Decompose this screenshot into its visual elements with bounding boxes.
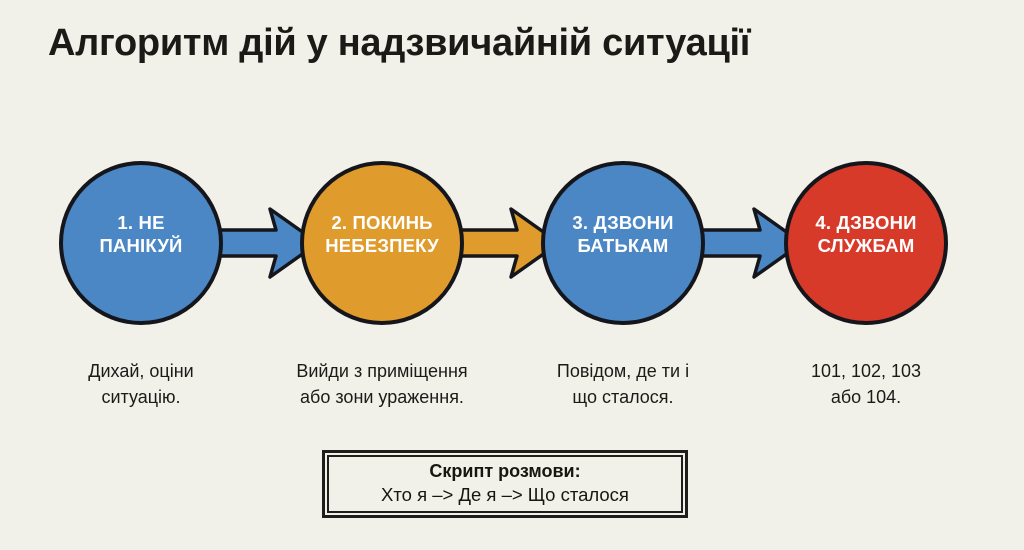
step-captions: Дихай, оціни ситуацію. Вийди з приміщенн… bbox=[0, 358, 1024, 418]
script-box-inner-frame: Скрипт розмови: Хто я –> Де я –> Що стал… bbox=[327, 455, 683, 513]
caption-step-3: Повідом, де ти і що сталося. bbox=[498, 358, 748, 410]
process-flow: 1. НЕ ПАНІКУЙ 2. ПОКИНЬ НЕБЕЗПЕКУ 3. ДЗВ… bbox=[0, 155, 1024, 335]
arrows-group bbox=[203, 209, 802, 277]
caption-step-1: Дихай, оціни ситуацію. bbox=[16, 358, 266, 410]
caption-line1: 101, 102, 103 bbox=[811, 361, 921, 381]
caption-line2: або 104. bbox=[741, 384, 991, 410]
script-box-title: Скрипт розмови: bbox=[429, 461, 580, 483]
script-box: Скрипт розмови: Хто я –> Де я –> Що стал… bbox=[322, 450, 688, 518]
caption-step-2: Вийди з приміщення або зони ураження. bbox=[257, 358, 507, 410]
caption-line1: Вийди з приміщення bbox=[296, 361, 467, 381]
circle-step-2 bbox=[302, 163, 462, 323]
flow-diagram-svg bbox=[0, 155, 1024, 335]
caption-line2: що сталося. bbox=[498, 384, 748, 410]
circle-step-1 bbox=[61, 163, 221, 323]
caption-line2: ситуацію. bbox=[16, 384, 266, 410]
circle-step-4 bbox=[786, 163, 946, 323]
infographic-root: Алгоритм дій у надзвичайній ситуації 1. … bbox=[0, 0, 1024, 550]
caption-step-4: 101, 102, 103 або 104. bbox=[741, 358, 991, 410]
caption-line2: або зони ураження. bbox=[257, 384, 507, 410]
page-title: Алгоритм дій у надзвичайній ситуації bbox=[48, 22, 750, 65]
script-box-line: Хто я –> Де я –> Що сталося bbox=[381, 483, 629, 507]
caption-line1: Повідом, де ти і bbox=[557, 361, 689, 381]
caption-line1: Дихай, оціни bbox=[88, 361, 193, 381]
circle-step-3 bbox=[543, 163, 703, 323]
